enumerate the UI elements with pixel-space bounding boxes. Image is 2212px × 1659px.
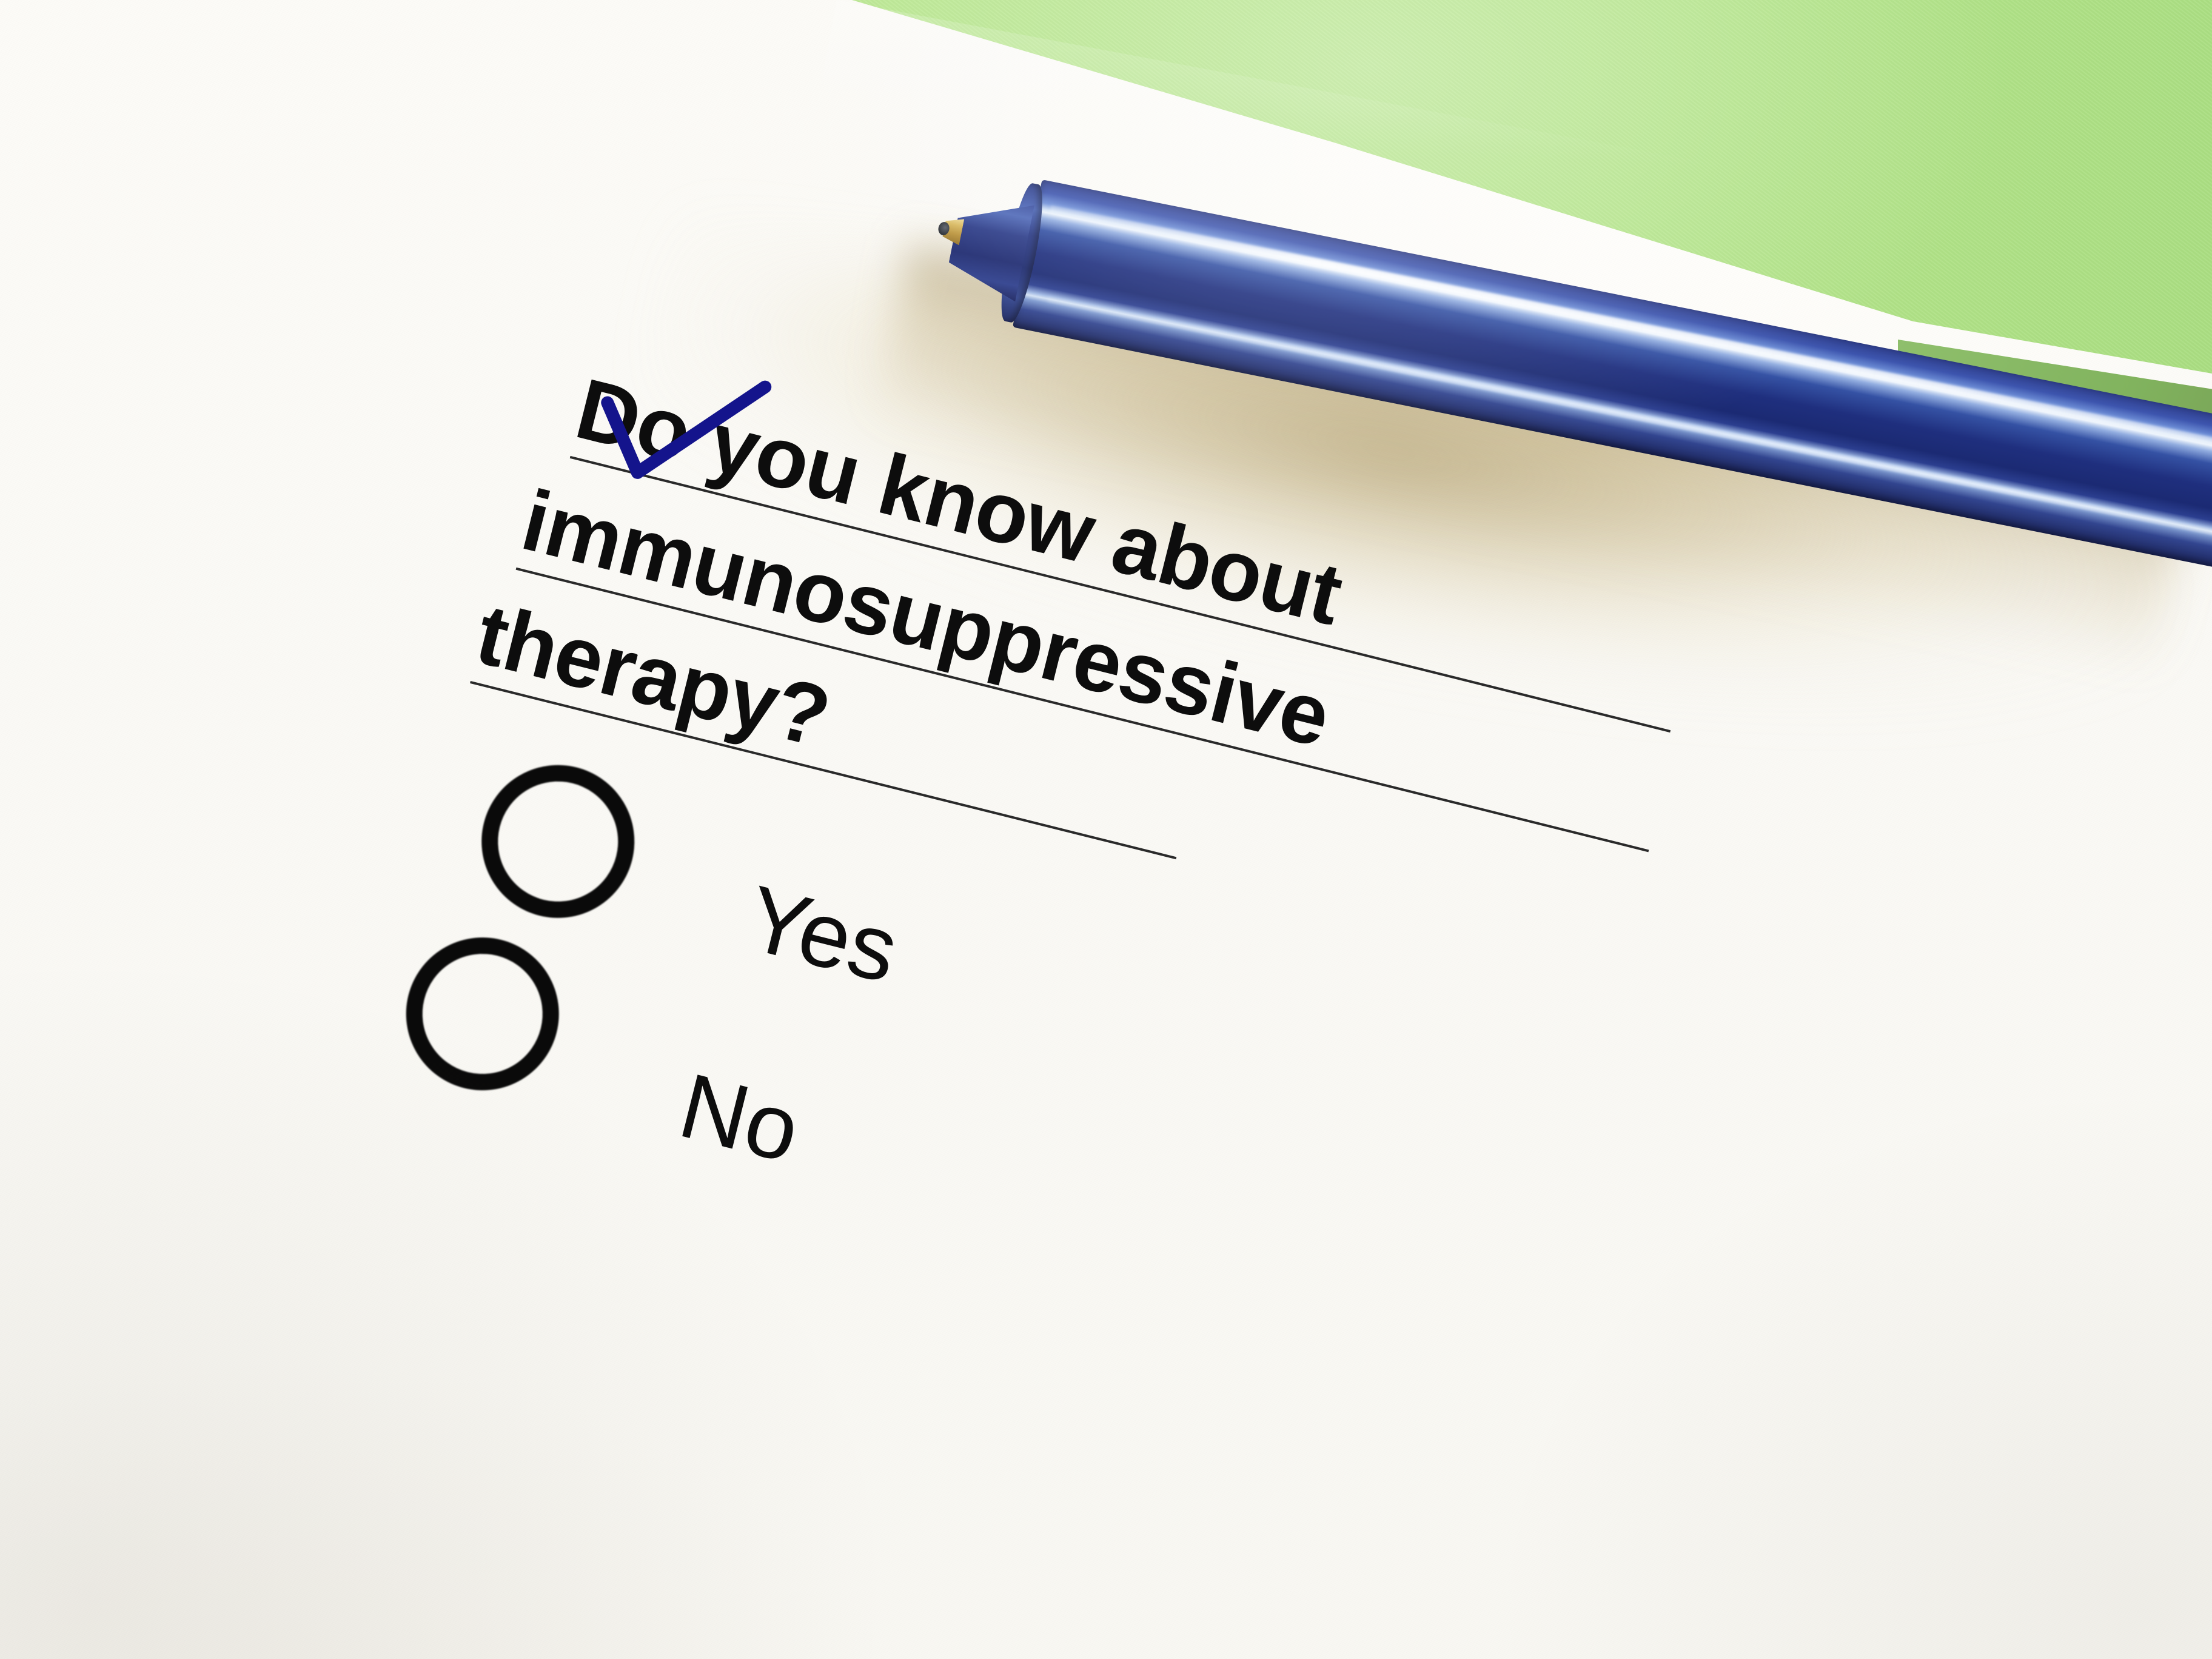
photo-canvas: Do you know about immunosuppressive ther… — [0, 0, 2212, 1659]
option-label-no: No — [670, 1052, 810, 1184]
radio-circle-yes[interactable] — [465, 749, 650, 934]
answer-options: Yes No — [419, 743, 1724, 1387]
option-label-yes: Yes — [737, 865, 908, 1004]
